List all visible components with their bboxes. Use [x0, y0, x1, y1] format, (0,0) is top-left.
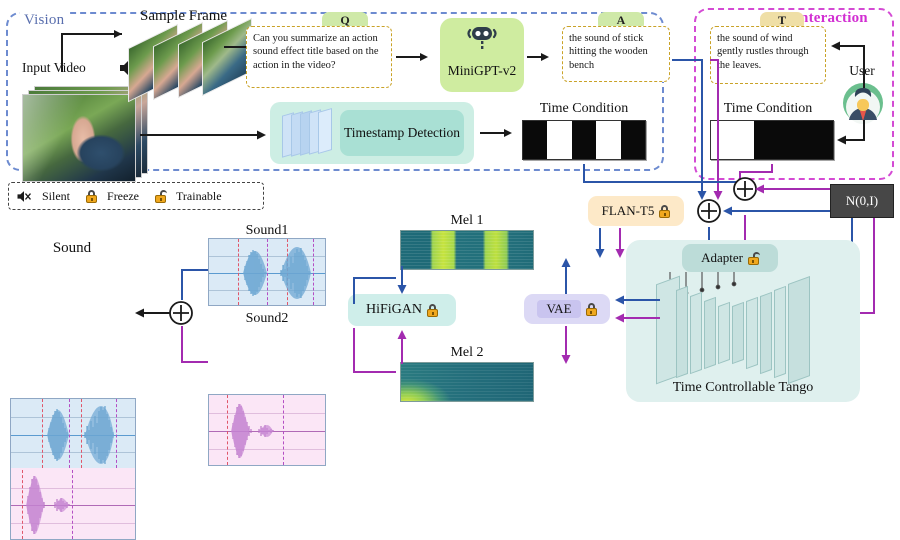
- flow-vae-mels: [540, 252, 600, 398]
- vision-group-label: Vision: [20, 12, 68, 29]
- arrow-video-to-timestamp: [140, 128, 276, 142]
- legend-silent-icon: [16, 190, 32, 203]
- flow-hifigan-to-sounds: [320, 272, 400, 382]
- closed-lock-icon: [86, 190, 97, 203]
- arrow-question-to-model: [396, 50, 438, 64]
- adapter-label: Adapter: [701, 250, 743, 266]
- timestamp-detection-text: Timestamp Detection: [344, 125, 460, 141]
- sound-label: Sound: [14, 238, 130, 258]
- timestamp-detection-label: Timestamp Detection: [340, 110, 464, 156]
- arrow-model-to-answer: [527, 50, 559, 64]
- minigpt-label: MiniGPT-v2: [440, 60, 524, 82]
- arrow-merge-to-sound: [126, 306, 172, 322]
- arrow-timestamp-to-timecondition: [480, 126, 524, 140]
- legend-silent-label: Silent: [42, 189, 70, 204]
- feature-stack-icon: [282, 110, 334, 156]
- flow-sounds-to-merge: [172, 256, 218, 386]
- sound2-label: Sound2: [208, 310, 326, 328]
- sound1-panel: [208, 238, 326, 306]
- sound2-panel: [208, 394, 326, 466]
- tango-label: Time Controllable Tango: [626, 378, 860, 398]
- sample-frame-label: Sample Frame: [140, 8, 227, 25]
- question-bubble: Can you summarize an action sound effect…: [246, 26, 392, 88]
- mel1-label: Mel 1: [400, 212, 534, 230]
- legend-box: Silent Freeze Trainable: [8, 182, 264, 210]
- arrow-video-to-frames: [60, 28, 140, 74]
- sound-panel: [10, 398, 136, 540]
- robot-icon: [466, 23, 498, 53]
- sample-frame-stack: [128, 26, 248, 94]
- input-video-frame: [22, 94, 136, 182]
- open-lock-icon: [748, 252, 759, 265]
- open-lock-icon: [155, 190, 166, 203]
- adapter-block[interactable]: Adapter: [682, 244, 778, 272]
- legend-freeze-label: Freeze: [107, 189, 139, 204]
- mel1-spectrogram: [400, 230, 534, 270]
- tango-unet-stack: [656, 278, 836, 384]
- arrow-tango-to-vae: [606, 292, 666, 328]
- legend-trainable-label: Trainable: [176, 189, 222, 204]
